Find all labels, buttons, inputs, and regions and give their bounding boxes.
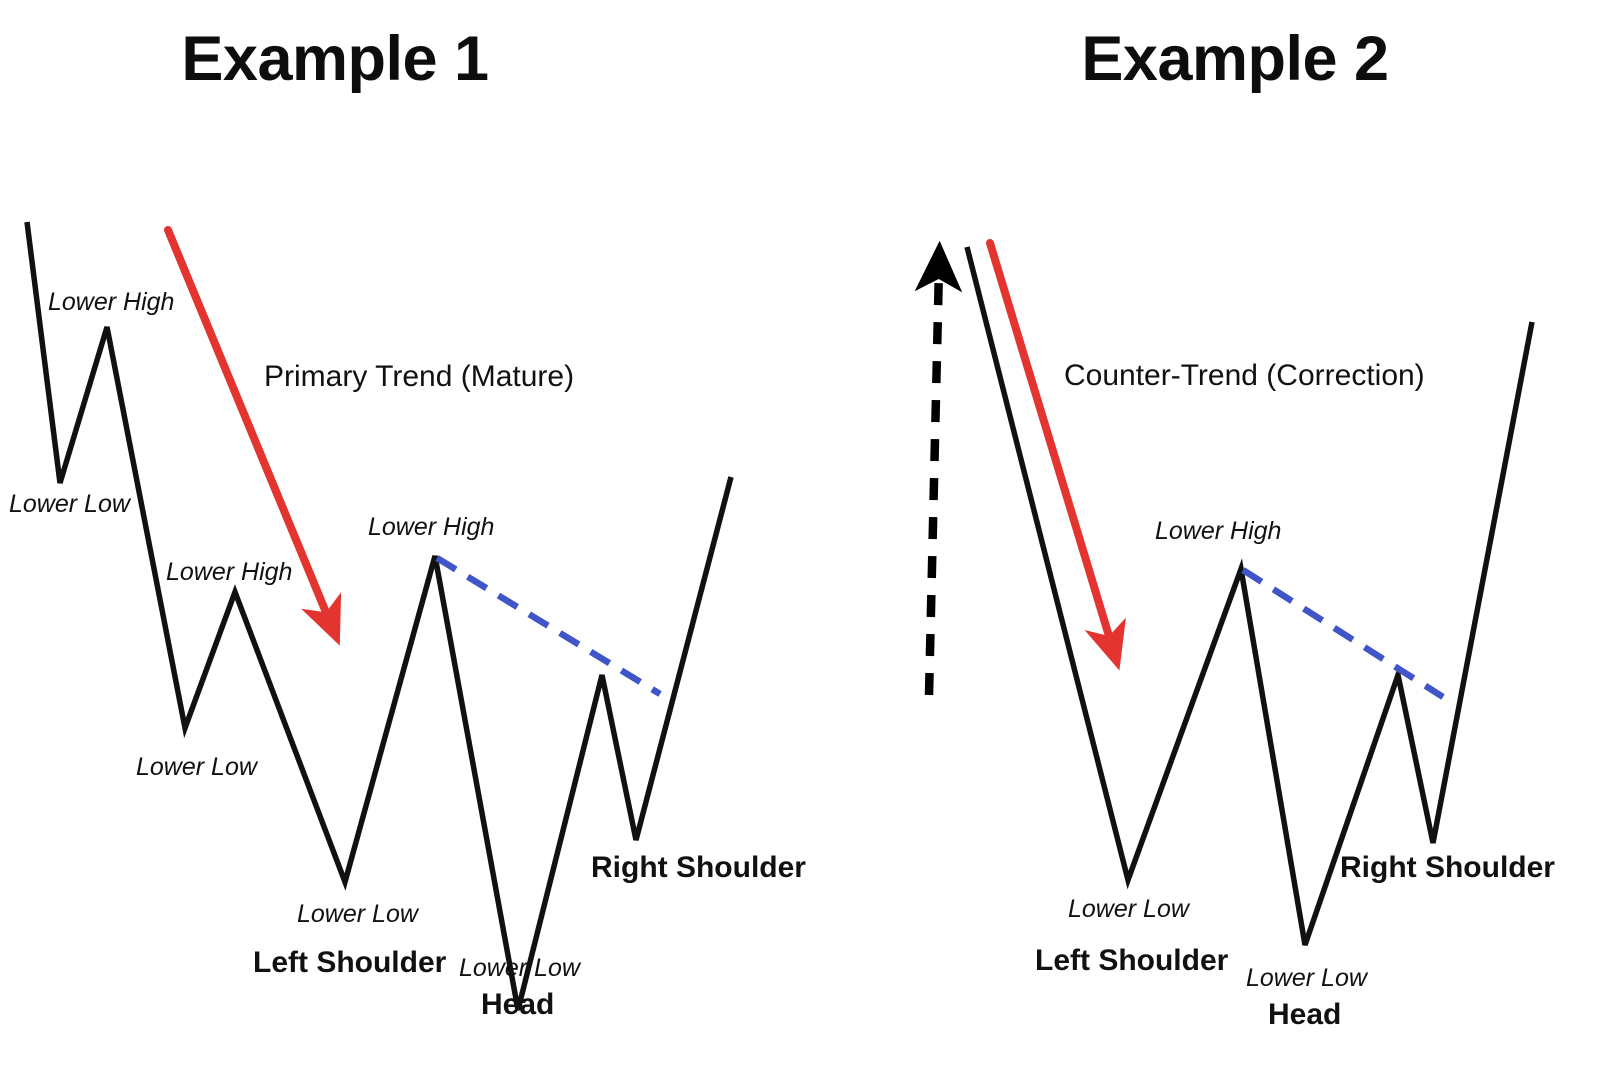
example-2-group (929, 243, 1532, 945)
structure-label-head-2: Head (1268, 1000, 1341, 1030)
swing-label-lower-low-1a: Lower Low (9, 492, 130, 517)
trend-note-example-2: Counter-Trend (Correction) (1064, 361, 1425, 391)
swing-label-lower-high-1c: Lower High (368, 515, 494, 540)
example-1-group (27, 222, 731, 1010)
swing-label-lower-low-2a: Lower Low (1068, 897, 1189, 922)
diagram-canvas: Example 1 Example 2 (0, 0, 1600, 1085)
structure-label-head-1: Head (481, 990, 554, 1020)
structure-label-left-shoulder-1: Left Shoulder (253, 948, 446, 978)
neckline-example-1 (437, 558, 660, 694)
swing-label-lower-low-1c: Lower Low (297, 902, 418, 927)
trend-note-example-1: Primary Trend (Mature) (264, 362, 574, 392)
structure-label-left-shoulder-2: Left Shoulder (1035, 946, 1228, 976)
price-line-example-2 (967, 247, 1532, 945)
neckline-example-2 (1243, 570, 1443, 697)
swing-label-lower-low-1d: Lower Low (459, 956, 580, 981)
structure-label-right-shoulder-1: Right Shoulder (591, 853, 806, 883)
swing-label-lower-high-1a: Lower High (48, 290, 174, 315)
chart-artwork (0, 0, 1600, 1085)
swing-label-lower-high-1b: Lower High (166, 560, 292, 585)
swing-label-lower-low-2b: Lower Low (1246, 966, 1367, 991)
uptrend-arrow (929, 268, 939, 695)
price-line-example-1 (27, 222, 731, 1010)
swing-label-lower-high-2a: Lower High (1155, 519, 1281, 544)
structure-label-right-shoulder-2: Right Shoulder (1340, 853, 1555, 883)
swing-label-lower-low-1b: Lower Low (136, 755, 257, 780)
